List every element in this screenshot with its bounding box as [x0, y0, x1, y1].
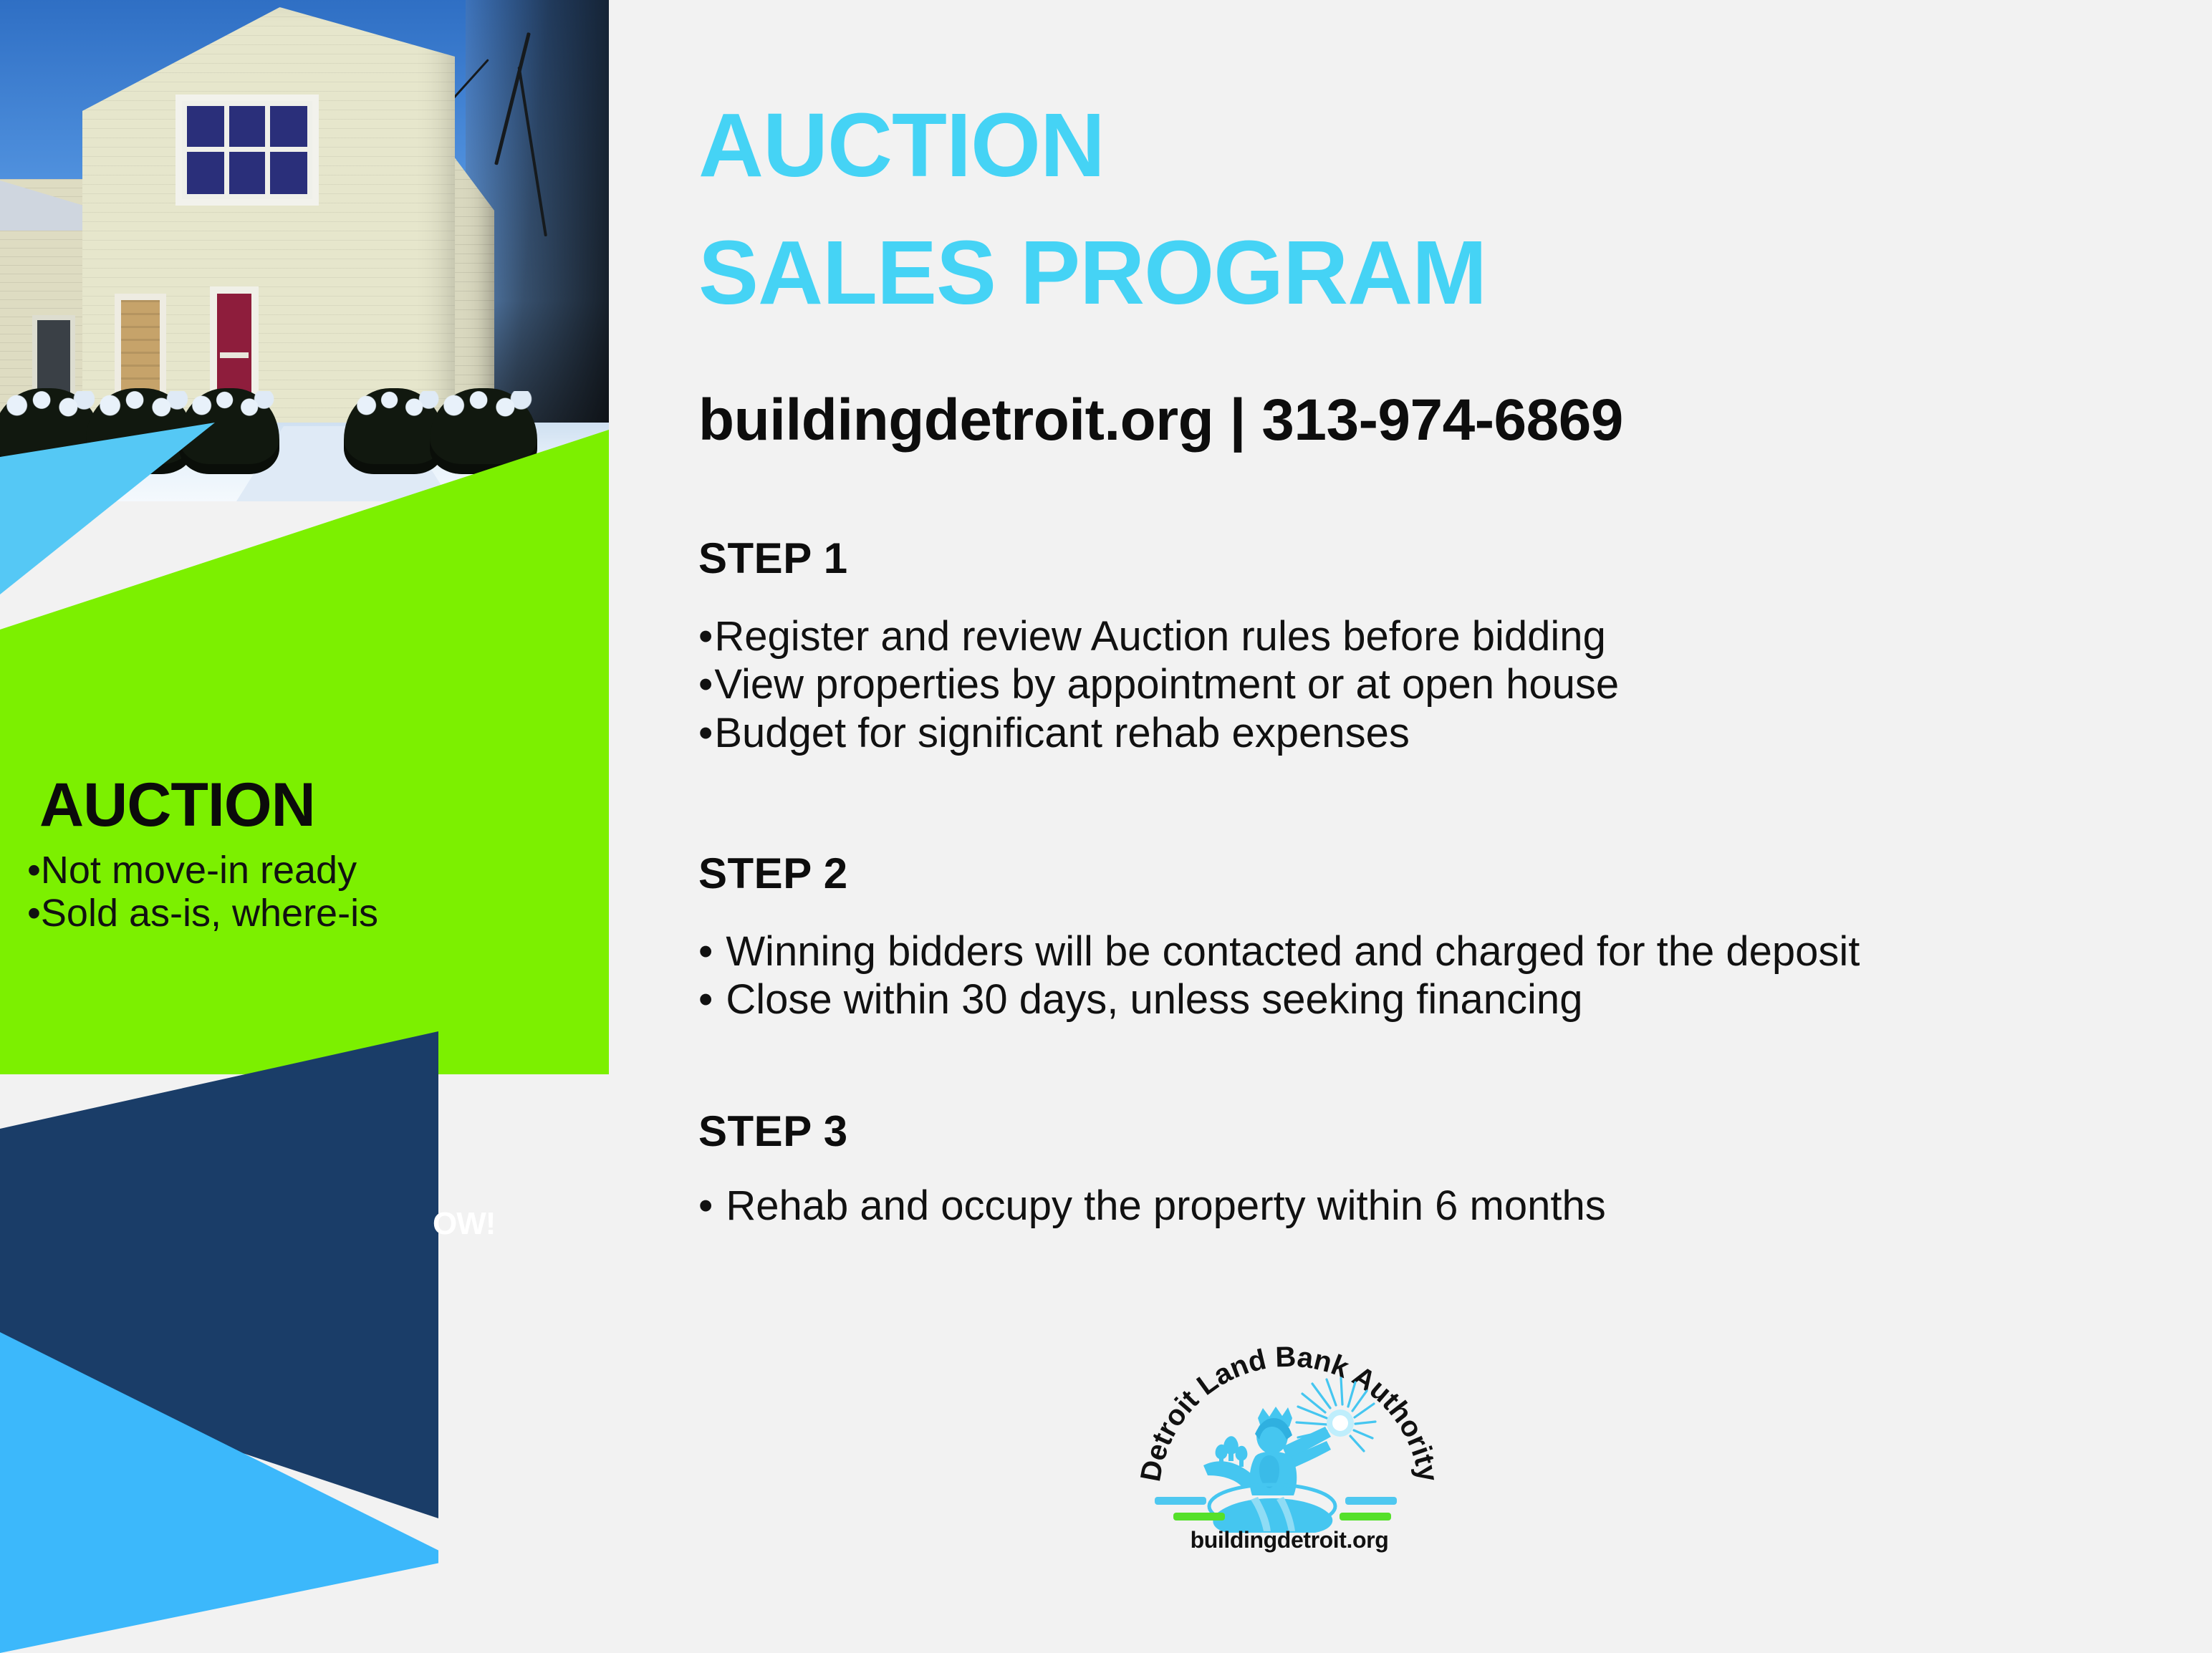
bullet-glyph: •: [27, 849, 41, 892]
list-item-label: Not move-in ready: [41, 849, 357, 892]
list-item-label: Sold as-is, where-is: [41, 892, 378, 935]
list-item: •Sold as-is, where-is: [27, 892, 378, 935]
list-item-label: Rehab and occupy the property within 6 m…: [726, 1182, 1605, 1229]
list-item: •Winning bidders will be contacted and c…: [698, 927, 1860, 975]
bullet-glyph: •: [27, 892, 41, 935]
list-item: •Budget for significant rehab expenses: [698, 709, 1619, 757]
upper-window: [175, 95, 319, 206]
left-panel-title: AUCTION: [39, 770, 315, 841]
list-item-label: Close within 30 days, unless seeking fin…: [726, 976, 1582, 1023]
step-2-list: •Winning bidders will be contacted and c…: [698, 927, 1860, 1024]
spirit-of-detroit-icon: [1203, 1378, 1375, 1533]
bullet-glyph: •: [698, 661, 713, 708]
green-accent-shape: AUCTION •Not move-in ready •Sold as-is, …: [0, 430, 609, 1074]
step-1-heading: STEP 1: [698, 534, 848, 583]
list-item-label: View properties by appointment or at ope…: [714, 661, 1619, 708]
logo-url[interactable]: buildingdetroit.org: [1117, 1527, 1461, 1553]
left-panel-bullets: •Not move-in ready •Sold as-is, where-is: [27, 849, 378, 935]
dlba-logo[interactable]: Detroit Land Bank Authority: [1117, 1332, 1461, 1576]
headline-line-2: SALES PROGRAM: [698, 228, 1486, 318]
step-3-list: •Rehab and occupy the property within 6 …: [698, 1182, 1606, 1230]
step-3-heading: STEP 3: [698, 1107, 848, 1156]
property-photo: [0, 0, 609, 501]
list-item-label: Register and review Auction rules before…: [714, 613, 1606, 660]
list-item-label: Budget for significant rehab expenses: [714, 710, 1410, 756]
bullet-glyph: •: [698, 613, 713, 660]
bullet-glyph: •: [698, 710, 713, 756]
list-item: •Not move-in ready: [27, 849, 378, 892]
auction-flyer: AUCTION •Not move-in ready •Sold as-is, …: [0, 0, 2212, 1653]
logo-mark: Detroit Land Bank Authority: [1117, 1332, 1461, 1547]
list-item: •Register and review Auction rules befor…: [698, 612, 1619, 660]
bullet-glyph: •: [698, 1182, 713, 1229]
step-1-list: •Register and review Auction rules befor…: [698, 612, 1619, 757]
bullet-glyph: •: [698, 976, 713, 1023]
list-item-label: Winning bidders will be contacted and ch…: [726, 928, 1860, 975]
snowy-bush: [344, 388, 444, 474]
list-item: •View properties by appointment or at op…: [698, 660, 1619, 708]
list-item: •Close within 30 days, unless seeking fi…: [698, 975, 1860, 1023]
contact-line[interactable]: buildingdetroit.org | 313-974-6869: [698, 387, 1623, 454]
step-2-heading: STEP 2: [698, 849, 848, 898]
headline-line-1: AUCTION: [698, 100, 1105, 191]
left-graphic-column: AUCTION •Not move-in ready •Sold as-is, …: [0, 0, 609, 1653]
cutoff-now-text: OW!: [433, 1206, 495, 1242]
list-item: •Rehab and occupy the property within 6 …: [698, 1182, 1606, 1230]
bullet-glyph: •: [698, 928, 713, 975]
